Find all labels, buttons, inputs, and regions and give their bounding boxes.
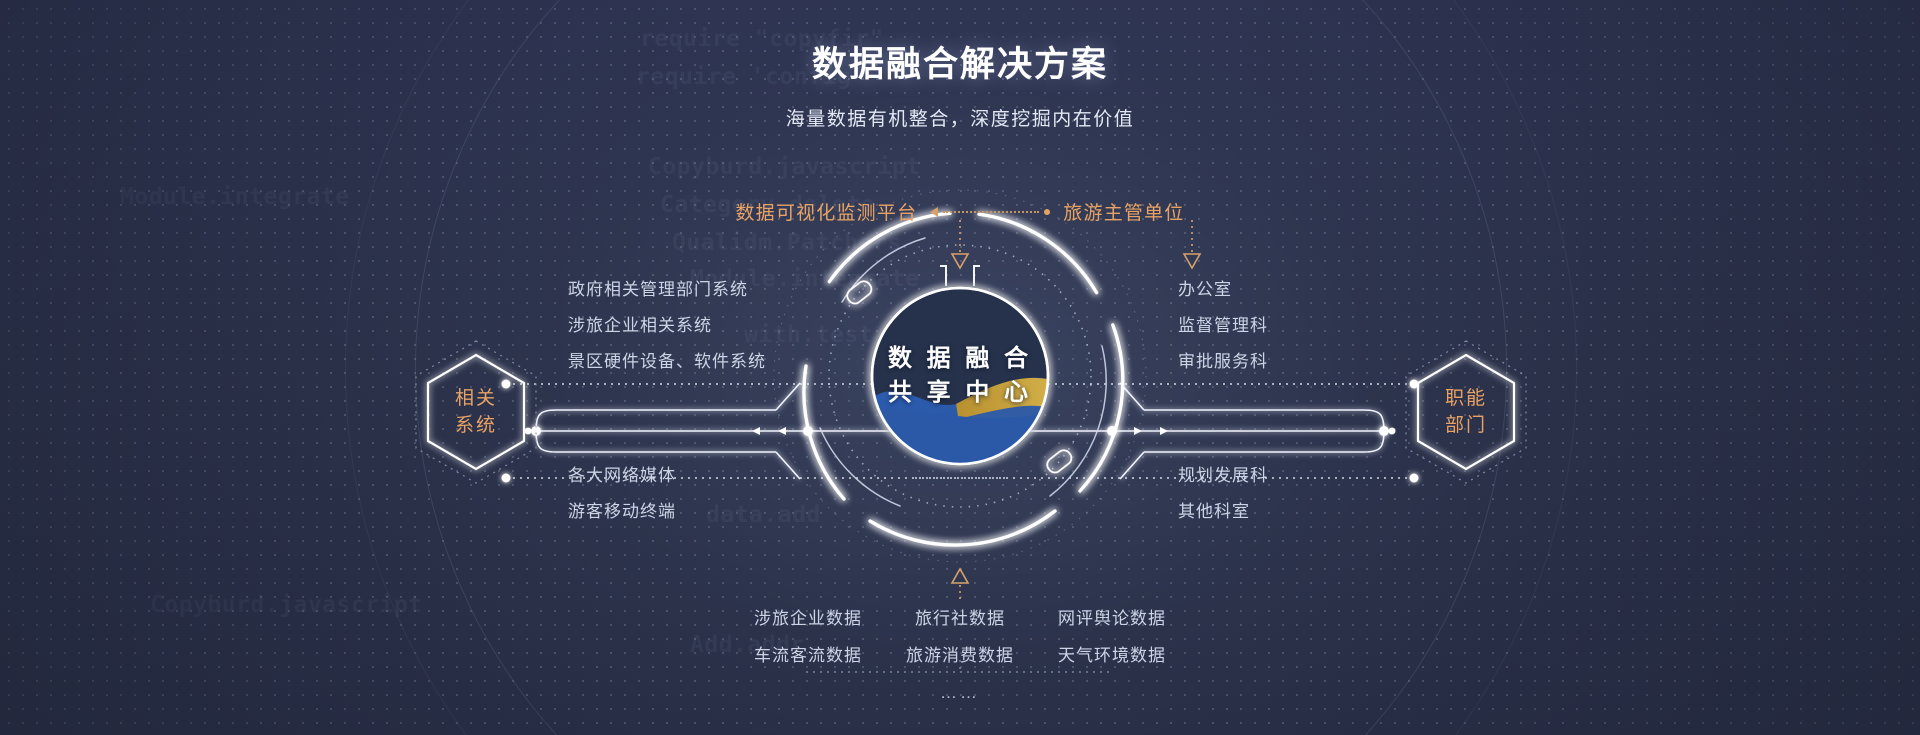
arrow-head xyxy=(930,207,938,217)
endpoint-dot xyxy=(1044,209,1050,215)
label-item: 天气环境数据 xyxy=(1036,637,1188,674)
page-subtitle: 海量数据有机整合，深度挖掘内在价值 xyxy=(0,87,1920,131)
hexagon-label-line1: 职能 xyxy=(1445,385,1487,412)
label-item: 车流客流数据 xyxy=(732,637,884,674)
label-item: 网评舆论数据 xyxy=(1036,600,1188,637)
right-top-label-column: 办公室 监督管理科 审批服务科 xyxy=(1178,272,1268,380)
left-top-label-column: 政府相关管理部门系统 涉旅企业相关系统 景区硬件设备、软件系统 xyxy=(568,272,766,380)
label-item: 审批服务科 xyxy=(1178,344,1268,380)
hexagon-label-line2: 部门 xyxy=(1445,412,1487,439)
hexagon-badge-related-systems[interactable]: 相关 系统 xyxy=(410,337,542,487)
label-item: 涉旅企业相关系统 xyxy=(568,308,766,344)
page-title: 数据融合解决方案 xyxy=(0,0,1920,87)
label-item: 游客移动终端 xyxy=(568,494,676,530)
hexagon-label-line2: 系统 xyxy=(455,412,497,439)
top-flow-row: 数据可视化监测平台 旅游主管单位 xyxy=(0,198,1920,225)
label-item: 其他科室 xyxy=(1178,494,1268,530)
label-item: 旅游消费数据 xyxy=(884,637,1036,674)
label-item: 政府相关管理部门系统 xyxy=(568,272,766,308)
bottom-label-row-1: 涉旅企业数据 旅行社数据 网评舆论数据 xyxy=(732,600,1188,637)
label-item: 规划发展科 xyxy=(1178,458,1268,494)
label-item: 旅行社数据 xyxy=(884,600,1036,637)
bottom-data-labels: 涉旅企业数据 旅行社数据 网评舆论数据 车流客流数据 旅游消费数据 天气环境数据… xyxy=(0,600,1920,708)
label-tourism-authority: 旅游主管单位 xyxy=(1063,198,1184,225)
right-bottom-label-column: 规划发展科 其他科室 xyxy=(1178,458,1268,530)
bottom-ellipsis: …… xyxy=(940,674,980,708)
left-bottom-label-column: 各大网络媒体 游客移动终端 xyxy=(568,458,676,530)
center-label-line2: 共 享 中 心 xyxy=(888,376,1032,410)
center-label-line1: 数 据 融 合 xyxy=(888,342,1032,376)
header: 数据融合解决方案 海量数据有机整合，深度挖掘内在价值 xyxy=(0,0,1920,131)
infographic-stage: require "copyfir" require 'config' Copyb… xyxy=(0,0,1920,735)
label-item: 办公室 xyxy=(1178,272,1268,308)
bottom-label-row-2: 车流客流数据 旅游消费数据 天气环境数据 xyxy=(732,637,1188,674)
dotted-arrow-left-icon xyxy=(930,207,1050,217)
label-item: 各大网络媒体 xyxy=(568,458,676,494)
center-hub: 数 据 融 合 共 享 中 心 xyxy=(750,166,1170,586)
label-item: 景区硬件设备、软件系统 xyxy=(568,344,766,380)
label-item: 监督管理科 xyxy=(1178,308,1268,344)
label-item: 涉旅企业数据 xyxy=(732,600,884,637)
center-label: 数 据 融 合 共 享 中 心 xyxy=(888,342,1032,410)
hexagon-label-line1: 相关 xyxy=(455,385,497,412)
hexagon-label: 相关 系统 xyxy=(410,337,542,487)
label-visualization-platform: 数据可视化监测平台 xyxy=(735,198,917,225)
hexagon-label: 职能 部门 xyxy=(1400,337,1532,487)
dotted-line xyxy=(943,211,1039,213)
hexagon-badge-functional-departments[interactable]: 职能 部门 xyxy=(1400,337,1532,487)
